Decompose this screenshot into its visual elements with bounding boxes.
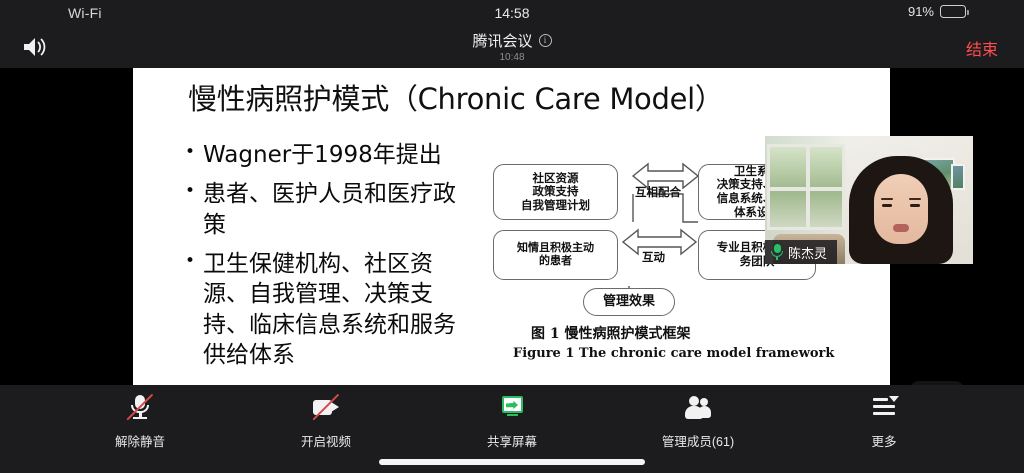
participant-video-thumbnail[interactable]: 陈杰灵 [765, 136, 973, 264]
bullet-text: 卫生保健机构、社区资源、自我管理、决策支持、临床信息系统和服务供给体系 [203, 249, 475, 370]
slide-title: 慢性病照护模式（Chronic Care Model） [188, 76, 724, 118]
meeting-screen: Wi-Fi 14:58 91% 腾讯会议 i 10:48 结束 慢性病照 [0, 0, 1024, 473]
unmute-button[interactable]: 解除静音 [80, 393, 200, 450]
figure-caption-en: Figure 1 The chronic care model framewor… [513, 346, 834, 361]
share-screen-button[interactable]: 共享屏幕 [452, 393, 572, 450]
list-item: • Wagner于1998年提出 [185, 140, 475, 170]
bullet-text: Wagner于1998年提出 [203, 140, 442, 170]
slide-bullet-list: • Wagner于1998年提出 • 患者、医护人员和医疗政策 • 卫生保健机构… [185, 140, 475, 380]
start-video-label: 开启视频 [301, 431, 351, 450]
bullet-dot: • [185, 179, 195, 204]
app-title: 腾讯会议 [472, 30, 532, 51]
participants-icon [681, 393, 715, 423]
meeting-toolbar: 解除静音 开启视频 共享屏幕 管理成员(61 [0, 385, 1024, 473]
more-button[interactable]: 更多 [824, 393, 944, 450]
status-bar-clock: 14:58 [0, 5, 1024, 21]
info-icon[interactable]: i [539, 34, 552, 47]
figure-box: 社区资源政策支持自我管理计划 [493, 164, 618, 220]
participant-figure [843, 154, 959, 264]
start-video-button[interactable]: 开启视频 [266, 393, 386, 450]
microphone-on-icon [771, 244, 783, 260]
meeting-duration: 10:48 [0, 52, 1024, 63]
battery-percent-label: 91% [908, 4, 934, 19]
bullet-dot: • [185, 249, 195, 274]
microphone-muted-icon [123, 393, 157, 423]
figure-box: 知情且积极主动的患者 [493, 230, 618, 280]
share-screen-icon [495, 393, 529, 423]
home-indicator[interactable] [379, 459, 645, 465]
status-bar: Wi-Fi 14:58 91% [0, 0, 1024, 28]
shared-screen-stage[interactable]: 慢性病照护模式（Chronic Care Model） • Wagner于199… [0, 68, 1024, 385]
camera-muted-icon [309, 393, 343, 423]
unmute-label: 解除静音 [115, 431, 165, 450]
meeting-top-bar: 腾讯会议 i 10:48 结束 [0, 28, 1024, 68]
manage-participants-label: 管理成员(61) [662, 431, 734, 450]
figure-caption-cn: 图 1 慢性病照护模式框架 [531, 323, 691, 343]
battery-status: 91% [908, 4, 966, 19]
list-item: • 卫生保健机构、社区资源、自我管理、决策支持、临床信息系统和服务供给体系 [185, 249, 475, 370]
battery-icon [940, 5, 966, 18]
figure-label: 互相配合 [635, 184, 681, 200]
share-screen-label: 共享屏幕 [487, 431, 537, 450]
participant-name-chip: 陈杰灵 [765, 240, 837, 264]
list-item: • 患者、医护人员和医疗政策 [185, 179, 475, 240]
more-menu-icon [867, 393, 901, 423]
manage-participants-button[interactable]: 管理成员(61) [638, 393, 758, 450]
end-meeting-button[interactable]: 结束 [966, 36, 998, 60]
participant-name: 陈杰灵 [788, 243, 827, 262]
more-label: 更多 [871, 431, 896, 450]
window-decor [767, 144, 845, 230]
figure-box: 管理效果 [583, 288, 675, 316]
meeting-info: 腾讯会议 i 10:48 [0, 30, 1024, 63]
bullet-text: 患者、医护人员和医疗政策 [203, 179, 475, 240]
figure-label: 互动 [642, 249, 665, 265]
bullet-dot: • [185, 140, 195, 165]
